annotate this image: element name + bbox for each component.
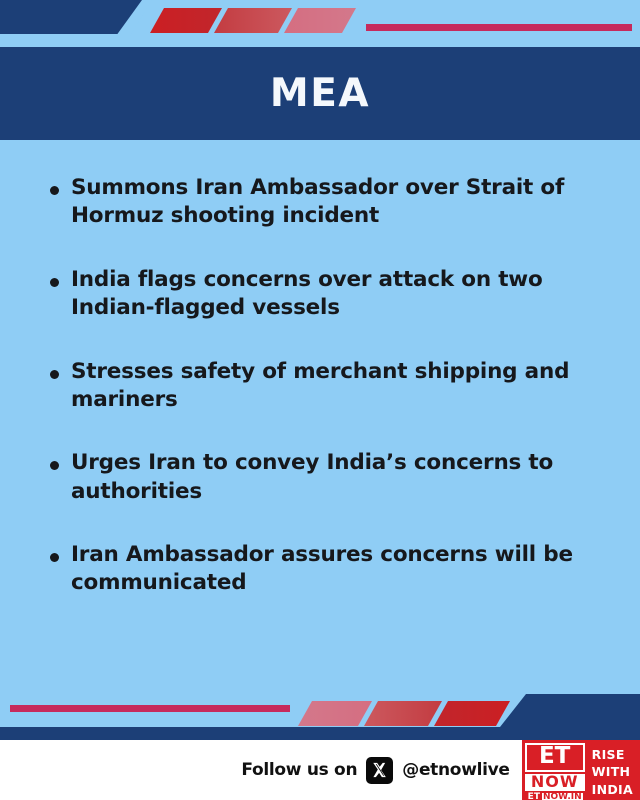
social-handle[interactable]: @etnowlive	[402, 760, 509, 780]
etnow-logo[interactable]: ET NOW ET NOW.IN RISE WITH INDIA	[522, 740, 640, 800]
social-follow-group: Follow us on @etnowlive	[241, 757, 509, 784]
bullet-dot-icon	[50, 278, 59, 287]
list-item-text: India flags concerns over attack on two …	[71, 266, 611, 323]
etnow-logo-mark: ET NOW ET NOW.IN	[522, 740, 588, 800]
list-item: Urges Iran to convey India’s concerns to…	[38, 449, 622, 506]
infographic-card: MEA Summons Iran Ambassador over Strait …	[0, 0, 640, 800]
bullet-dot-icon	[50, 186, 59, 195]
etnow-logo-et: ET	[525, 743, 585, 772]
bottom-accent-rule	[10, 705, 290, 712]
etnow-tagline: RISE WITH INDIA	[588, 740, 640, 800]
top-accent-rule	[366, 24, 632, 31]
list-item-text: Stresses safety of merchant shipping and…	[71, 358, 611, 415]
bullet-dot-icon	[50, 553, 59, 562]
etnow-logo-now: NOW	[525, 774, 585, 791]
list-item: Iran Ambassador assures concerns will be…	[38, 541, 622, 598]
list-item-text: Urges Iran to convey India’s concerns to…	[71, 449, 611, 506]
etnow-tagline-line3: INDIA	[592, 781, 633, 798]
x-twitter-icon[interactable]	[366, 757, 393, 784]
list-item: India flags concerns over attack on two …	[38, 266, 622, 323]
page-title: MEA	[270, 71, 370, 116]
bullet-dot-icon	[50, 461, 59, 470]
list-item-text: Summons Iran Ambassador over Strait of H…	[71, 174, 611, 231]
etnow-tagline-line1: RISE	[592, 746, 633, 763]
footer-bar: Follow us on @etnowlive ET NOW ET NOW.IN…	[0, 740, 640, 800]
list-item-text: Iran Ambassador assures concerns will be…	[71, 541, 611, 598]
etnow-logo-url: ET NOW.IN	[525, 793, 585, 800]
etnow-url-suffix: NOW.IN	[542, 793, 583, 800]
etnow-url-prefix: ET	[527, 793, 541, 800]
bullet-dot-icon	[50, 370, 59, 379]
list-item: Summons Iran Ambassador over Strait of H…	[38, 174, 622, 231]
list-item: Stresses safety of merchant shipping and…	[38, 358, 622, 415]
follow-label: Follow us on	[241, 760, 357, 780]
etnow-tagline-line2: WITH	[592, 763, 633, 780]
bottom-dark-band	[0, 727, 640, 740]
bullet-list: Summons Iran Ambassador over Strait of H…	[0, 140, 640, 727]
header-band: MEA	[0, 47, 640, 140]
